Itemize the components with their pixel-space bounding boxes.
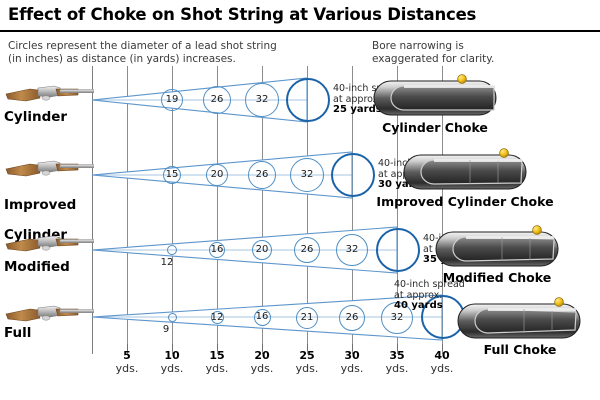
spread-note-cylinder: 40-inch spread at approx. 25 yards bbox=[333, 84, 404, 116]
shotgun-icon-improved-cylinder bbox=[4, 153, 94, 183]
axis-label-35yds-unit: yds. bbox=[375, 363, 419, 376]
spread-note-cylinder-line3: 25 yards bbox=[333, 104, 382, 115]
row-label-modified: Modified bbox=[4, 260, 70, 275]
shot-value-full-25yds: 21 bbox=[296, 313, 318, 323]
shot-circle-full-10yds bbox=[168, 313, 177, 322]
choke-caption-cylinder: Cylinder Choke bbox=[370, 120, 500, 135]
spread-note-improved-cylinder-line3: 30 yards bbox=[378, 179, 427, 190]
axis-label-5yds-unit: yds. bbox=[105, 363, 149, 376]
choke-caption-improved-cylinder: Improved Cylinder Choke bbox=[368, 194, 562, 209]
shot-circle-modified-35yds-spread bbox=[376, 228, 420, 272]
axis-label-35yds-value: 35 bbox=[375, 350, 419, 363]
spread-note-cylinder-line1: 40-inch spread bbox=[333, 84, 404, 95]
infographic-root: Effect of Choke on Shot String at Variou… bbox=[0, 0, 600, 400]
shot-value-modified-15yds: 16 bbox=[206, 245, 228, 255]
axis-label-25yds-value: 25 bbox=[285, 350, 329, 363]
axis-label-5yds: 5 yds. bbox=[105, 350, 149, 375]
axis-label-20yds: 20 yds. bbox=[240, 350, 284, 375]
shot-value-modified-10yds: 12 bbox=[156, 258, 178, 268]
legend-caption-left-line1: Circles represent the diameter of a lead… bbox=[8, 40, 277, 53]
shotgun-icon-modified bbox=[4, 228, 94, 258]
row-cylinder: Cylinder 19 26 32 40-inch spread at appr… bbox=[0, 70, 600, 142]
shot-value-improved-cylinder-15yds: 20 bbox=[206, 170, 228, 180]
axis-label-15yds-unit: yds. bbox=[195, 363, 239, 376]
shot-value-modified-20yds: 20 bbox=[251, 245, 273, 255]
spread-note-modified-line1: 40-inch spread bbox=[423, 234, 494, 245]
axis-label-25yds-unit: yds. bbox=[285, 363, 329, 376]
shot-value-cylinder-15yds: 26 bbox=[203, 95, 231, 105]
shot-circle-cylinder-25yds-spread bbox=[286, 78, 330, 122]
shot-string-plot: Cylinder 19 26 32 40-inch spread at appr… bbox=[0, 62, 600, 362]
shot-circle-improved-cylinder-30yds-spread bbox=[331, 153, 375, 197]
shot-value-cylinder-20yds: 32 bbox=[245, 95, 279, 105]
shot-value-full-35yds: 32 bbox=[381, 313, 413, 323]
shot-circle-modified-10yds bbox=[167, 245, 177, 255]
choke-caption-modified: Modified Choke bbox=[432, 270, 562, 285]
axis-label-30yds: 30 yds. bbox=[330, 350, 374, 375]
axis-label-20yds-unit: yds. bbox=[240, 363, 284, 376]
shot-value-full-15yds: 12 bbox=[206, 313, 228, 323]
shotgun-icon-cylinder bbox=[4, 78, 94, 108]
shot-value-improved-cylinder-25yds: 32 bbox=[290, 170, 324, 180]
axis-label-10yds-unit: yds. bbox=[150, 363, 194, 376]
row-label-full: Full bbox=[4, 326, 31, 341]
axis-label-40yds-unit: yds. bbox=[420, 363, 464, 376]
spread-note-modified: 40-inch spread at approx. 35 yards bbox=[423, 234, 494, 266]
spread-note-improved-cylinder-line1: 40-inch spread bbox=[378, 159, 449, 170]
axis-label-35yds: 35 yds. bbox=[375, 350, 419, 375]
axis-label-15yds-value: 15 bbox=[195, 350, 239, 363]
spread-note-improved-cylinder: 40-inch spread at approx. 30 yards bbox=[378, 159, 449, 191]
shot-value-improved-cylinder-10yds: 15 bbox=[161, 170, 183, 180]
shot-value-cylinder-10yds: 19 bbox=[161, 95, 183, 105]
axis-label-10yds: 10 yds. bbox=[150, 350, 194, 375]
page-title: Effect of Choke on Shot String at Variou… bbox=[8, 5, 476, 24]
shot-value-full-30yds: 26 bbox=[339, 313, 365, 323]
shot-value-full-20yds: 16 bbox=[251, 312, 273, 322]
spread-note-full-line3: 40 yards bbox=[394, 300, 443, 311]
axis-label-10yds-value: 10 bbox=[150, 350, 194, 363]
shot-value-full-10yds: 9 bbox=[156, 325, 176, 335]
row-label-cylinder: Cylinder bbox=[4, 110, 67, 125]
shot-value-modified-25yds: 26 bbox=[294, 245, 320, 255]
axis-label-30yds-value: 30 bbox=[330, 350, 374, 363]
shot-value-modified-30yds: 32 bbox=[336, 245, 368, 255]
shotgun-icon-full bbox=[4, 298, 94, 328]
row-label-improved-cylinder-line1: Improved bbox=[4, 198, 76, 213]
axis-label-20yds-value: 20 bbox=[240, 350, 284, 363]
axis-label-15yds: 15 yds. bbox=[195, 350, 239, 375]
choke-caption-full: Full Choke bbox=[455, 342, 585, 357]
title-bar: Effect of Choke on Shot String at Variou… bbox=[0, 0, 600, 32]
legend-caption-right-line1: Bore narrowing is bbox=[372, 40, 494, 53]
spread-note-modified-line3: 35 yards bbox=[423, 254, 472, 265]
shot-value-improved-cylinder-20yds: 26 bbox=[248, 170, 276, 180]
axis-label-25yds: 25 yds. bbox=[285, 350, 329, 375]
axis-label-5yds-value: 5 bbox=[105, 350, 149, 363]
axis-label-30yds-unit: yds. bbox=[330, 363, 374, 376]
